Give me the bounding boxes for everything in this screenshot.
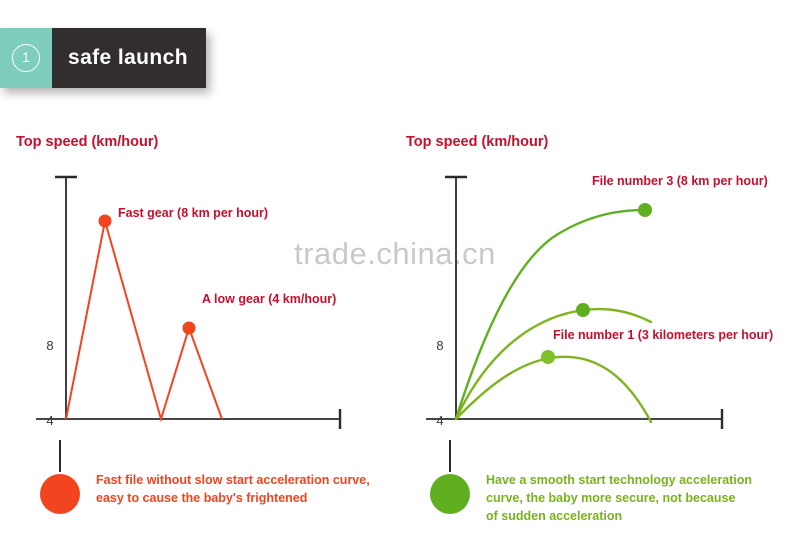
badge-number-box: 1 <box>0 28 52 88</box>
callout-file-number-3: File number 3 (8 km per hour) <box>592 174 768 188</box>
y-tick-left-4: 4 <box>42 413 58 428</box>
section-title: safe launch <box>52 28 206 88</box>
infographic-page: 1 safe launch trade.china.cn Top speed (… <box>0 0 790 540</box>
section-header-badge: 1 safe launch <box>0 28 206 88</box>
marker-file-number-1 <box>541 350 555 364</box>
left-chart-graphic <box>8 130 398 450</box>
callout-low-gear: A low gear (4 km/hour) <box>202 292 336 306</box>
marker-low-gear-peak <box>183 322 196 335</box>
caption-fast-gear: Fast file without slow start acceleratio… <box>40 466 370 514</box>
file-number-1-series-line <box>456 357 651 422</box>
fast-gear-series-line <box>66 221 222 419</box>
callout-file-number-1: File number 1 (3 kilometers per hour) <box>553 328 773 342</box>
marker-fast-gear-peak <box>99 215 112 228</box>
caption-smooth-start: Have a smooth start technology accelerat… <box>430 466 752 525</box>
y-tick-right-4: 4 <box>432 413 448 428</box>
marker-file-number-3 <box>638 203 652 217</box>
y-tick-right-8: 8 <box>432 338 448 353</box>
circled-number-icon: 1 <box>12 44 40 72</box>
caption-text-fast-gear: Fast file without slow start acceleratio… <box>96 472 370 508</box>
file-number-2-series-line <box>456 309 651 419</box>
y-tick-left-8: 8 <box>42 338 58 353</box>
caption-bullet-orange <box>40 474 80 514</box>
caption-text-smooth-start: Have a smooth start technology accelerat… <box>486 472 752 525</box>
marker-file-number-2 <box>576 303 590 317</box>
caption-bullet-green <box>430 474 470 514</box>
file-number-3-series-line <box>456 210 645 419</box>
callout-fast-gear: Fast gear (8 km per hour) <box>118 206 268 220</box>
